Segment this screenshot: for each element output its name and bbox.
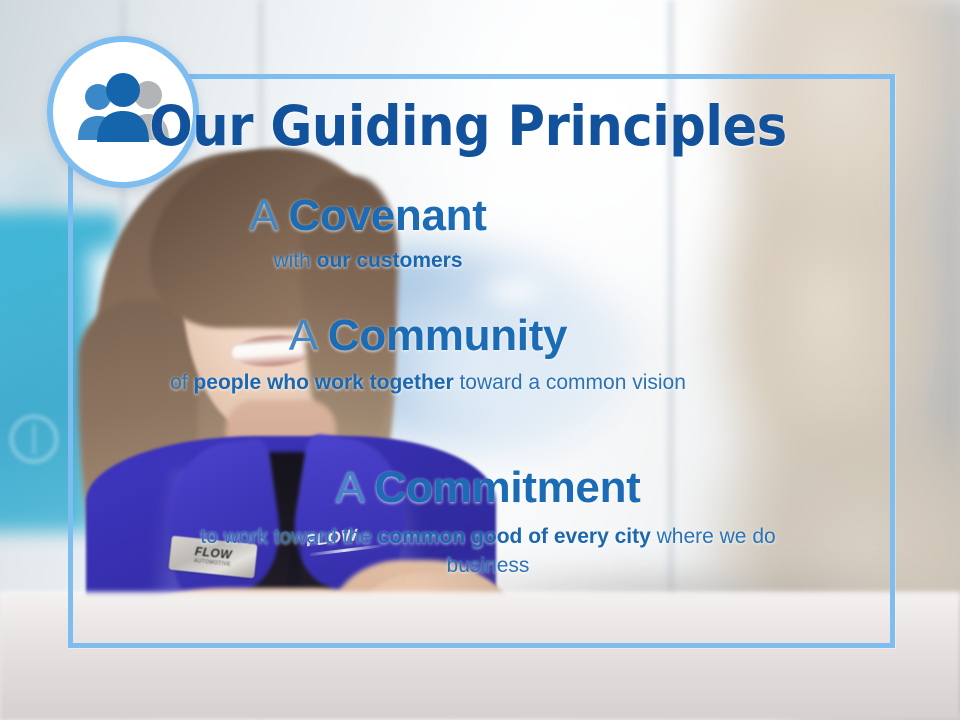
text-content: Our Guiding Principles A Covenant with o… bbox=[68, 74, 895, 648]
principle-covenant-title: A Covenant bbox=[68, 192, 668, 240]
principle-community-title: A Community bbox=[128, 312, 728, 360]
principle-community: A Community of people who work together … bbox=[128, 312, 728, 397]
community-sub-bold: people who work together bbox=[193, 371, 453, 394]
covenant-sub-prefix: with bbox=[273, 249, 316, 272]
page-title: Our Guiding Principles bbox=[96, 94, 840, 158]
principle-covenant-article: A bbox=[249, 191, 276, 240]
principle-community-word: Community bbox=[328, 311, 567, 360]
principle-covenant-word: Covenant bbox=[289, 191, 487, 240]
principle-commitment-subtitle: to work toward the common good of every … bbox=[188, 522, 788, 582]
commitment-sub-prefix: to work toward the bbox=[200, 525, 377, 548]
community-sub-suffix: toward a common vision bbox=[454, 371, 686, 394]
principle-community-subtitle: of people who work together toward a com… bbox=[128, 368, 728, 398]
commitment-sub-bold: common good of every city bbox=[378, 525, 651, 548]
principle-covenant: A Covenant with our customers bbox=[68, 192, 668, 275]
principle-commitment: A Commitment to work toward the common g… bbox=[188, 464, 788, 581]
principle-community-article: A bbox=[289, 311, 316, 360]
community-sub-prefix: of bbox=[170, 371, 193, 394]
principle-commitment-word: Commitment bbox=[375, 463, 641, 512]
principle-commitment-title: A Commitment bbox=[188, 464, 788, 512]
principle-commitment-article: A bbox=[335, 463, 362, 512]
covenant-sub-bold: our customers bbox=[317, 249, 463, 272]
principle-covenant-subtitle: with our customers bbox=[68, 246, 668, 276]
guiding-principles-banner: FLOW AUTOMOTIVE FLOW Our bbox=[0, 0, 960, 720]
